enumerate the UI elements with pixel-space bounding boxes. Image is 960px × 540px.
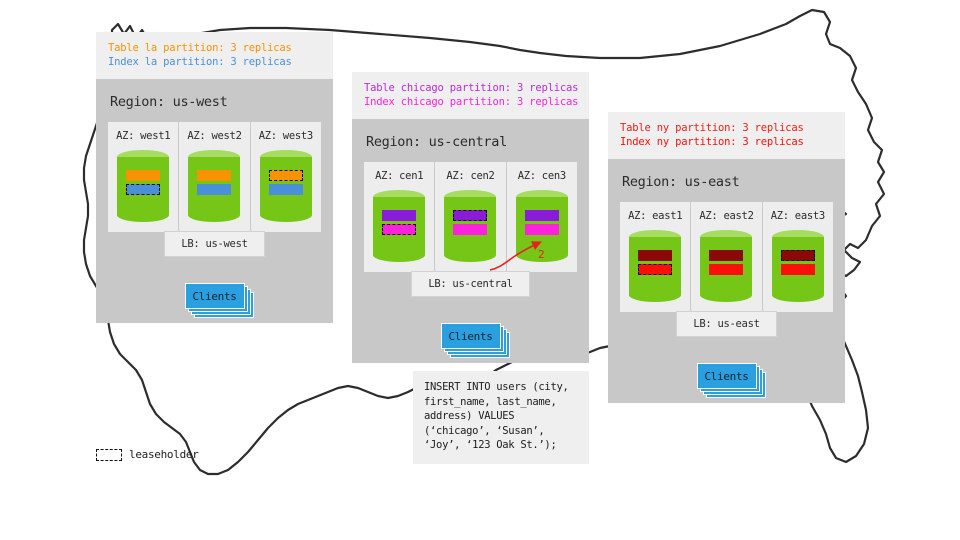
az-east1[interactable]: AZ: east1 <box>620 202 691 312</box>
replica-table-la <box>126 170 160 181</box>
az-label: AZ: west2 <box>187 130 241 142</box>
replica-index-chicago <box>525 224 559 235</box>
az-label: AZ: west3 <box>259 130 313 142</box>
replica-stack <box>629 250 681 275</box>
clients-us-east[interactable]: Clients <box>697 363 757 389</box>
az-row-us-central: AZ: cen1 AZ: cen2 <box>364 162 577 272</box>
region-title: Region: us-central <box>366 133 577 151</box>
arrow-step-label: 2 <box>538 248 545 261</box>
replica-index-la <box>269 184 303 195</box>
db-node-cen2[interactable] <box>444 190 496 262</box>
partition-line-table: Table la partition: 3 replicas <box>108 41 321 55</box>
az-east3[interactable]: AZ: east3 <box>763 202 833 312</box>
region-us-central: Table chicago partition: 3 replicas Inde… <box>352 72 589 363</box>
region-body-us-central: Region: us-central AZ: cen1 <box>352 119 589 363</box>
replica-index-chicago <box>453 224 487 235</box>
replica-stack <box>260 170 312 195</box>
replica-table-la-leaseholder <box>269 170 303 181</box>
region-us-west: Table la partition: 3 replicas Index la … <box>96 32 333 323</box>
partition-line-index: Index chicago partition: 3 replicas <box>364 95 577 109</box>
partition-line-index: Index la partition: 3 replicas <box>108 55 321 69</box>
replica-index-ny-leaseholder <box>638 264 672 275</box>
sql-statement-callout: INSERT INTO users (city, first_name, las… <box>413 371 589 464</box>
az-cen1[interactable]: AZ: cen1 <box>364 162 435 272</box>
region-us-east: Table ny partition: 3 replicas Index ny … <box>608 112 845 403</box>
db-node-west2[interactable] <box>188 150 240 222</box>
region-title: Region: us-west <box>110 93 321 111</box>
clients-wrap: Clients <box>108 283 321 309</box>
partition-line-table: Table ny partition: 3 replicas <box>620 121 833 135</box>
db-node-east3[interactable] <box>772 230 824 302</box>
clients-label: Clients <box>697 363 757 389</box>
db-node-cen1[interactable] <box>373 190 425 262</box>
replica-index-la <box>197 184 231 195</box>
az-label: AZ: east2 <box>699 210 753 222</box>
clients-label: Clients <box>441 323 501 349</box>
load-balancer-us-east[interactable]: LB: us-east <box>676 311 776 337</box>
replica-stack <box>700 250 752 275</box>
replica-index-ny <box>781 264 815 275</box>
az-west1[interactable]: AZ: west1 <box>108 122 179 232</box>
region-title: Region: us-east <box>622 173 833 191</box>
replica-stack <box>772 250 824 275</box>
az-west2[interactable]: AZ: west2 <box>179 122 250 232</box>
partition-line-index: Index ny partition: 3 replicas <box>620 135 833 149</box>
replica-index-chicago-leaseholder <box>382 224 416 235</box>
clients-label: Clients <box>185 283 245 309</box>
clients-us-central[interactable]: Clients <box>441 323 501 349</box>
az-row-us-west: AZ: west1 AZ: west2 <box>108 122 321 232</box>
az-label: AZ: cen3 <box>518 170 566 182</box>
partition-line-table: Table chicago partition: 3 replicas <box>364 81 577 95</box>
replica-table-la <box>197 170 231 181</box>
db-node-west1[interactable] <box>117 150 169 222</box>
clients-wrap: Clients <box>364 323 577 349</box>
db-node-east2[interactable] <box>700 230 752 302</box>
load-balancer-us-central[interactable]: LB: us-central <box>411 271 529 297</box>
replica-stack <box>373 210 425 235</box>
replica-index-ny <box>709 264 743 275</box>
az-west3[interactable]: AZ: west3 <box>251 122 321 232</box>
load-balancer-us-west[interactable]: LB: us-west <box>164 231 264 257</box>
clients-us-west[interactable]: Clients <box>185 283 245 309</box>
region-body-us-west: Region: us-west AZ: west1 A <box>96 79 333 323</box>
az-label: AZ: cen2 <box>446 170 494 182</box>
replica-table-chicago <box>382 210 416 221</box>
diagram-canvas: Table la partition: 3 replicas Index la … <box>0 0 960 540</box>
replica-stack <box>188 170 240 195</box>
partition-header-us-central: Table chicago partition: 3 replicas Inde… <box>352 72 589 119</box>
replica-index-la-leaseholder <box>126 184 160 195</box>
region-body-us-east: Region: us-east AZ: east1 A <box>608 159 845 403</box>
legend: leaseholder <box>96 448 199 461</box>
replica-stack <box>117 170 169 195</box>
leaseholder-swatch-icon <box>96 449 122 461</box>
az-label: AZ: cen1 <box>375 170 423 182</box>
replica-stack <box>444 210 496 235</box>
az-label: AZ: east3 <box>771 210 825 222</box>
partition-header-us-west: Table la partition: 3 replicas Index la … <box>96 32 333 79</box>
clients-wrap: Clients <box>620 363 833 389</box>
replica-stack <box>516 210 568 235</box>
partition-header-us-east: Table ny partition: 3 replicas Index ny … <box>608 112 845 159</box>
replica-table-chicago <box>525 210 559 221</box>
az-label: AZ: east1 <box>628 210 682 222</box>
db-node-east1[interactable] <box>629 230 681 302</box>
az-row-us-east: AZ: east1 AZ: east2 <box>620 202 833 312</box>
replica-table-ny <box>709 250 743 261</box>
replica-table-ny-leaseholder <box>781 250 815 261</box>
legend-label: leaseholder <box>129 448 199 461</box>
replica-table-chicago-leaseholder <box>453 210 487 221</box>
az-label: AZ: west1 <box>116 130 170 142</box>
az-cen2[interactable]: AZ: cen2 <box>435 162 506 272</box>
db-node-west3[interactable] <box>260 150 312 222</box>
az-east2[interactable]: AZ: east2 <box>691 202 762 312</box>
replica-table-ny <box>638 250 672 261</box>
